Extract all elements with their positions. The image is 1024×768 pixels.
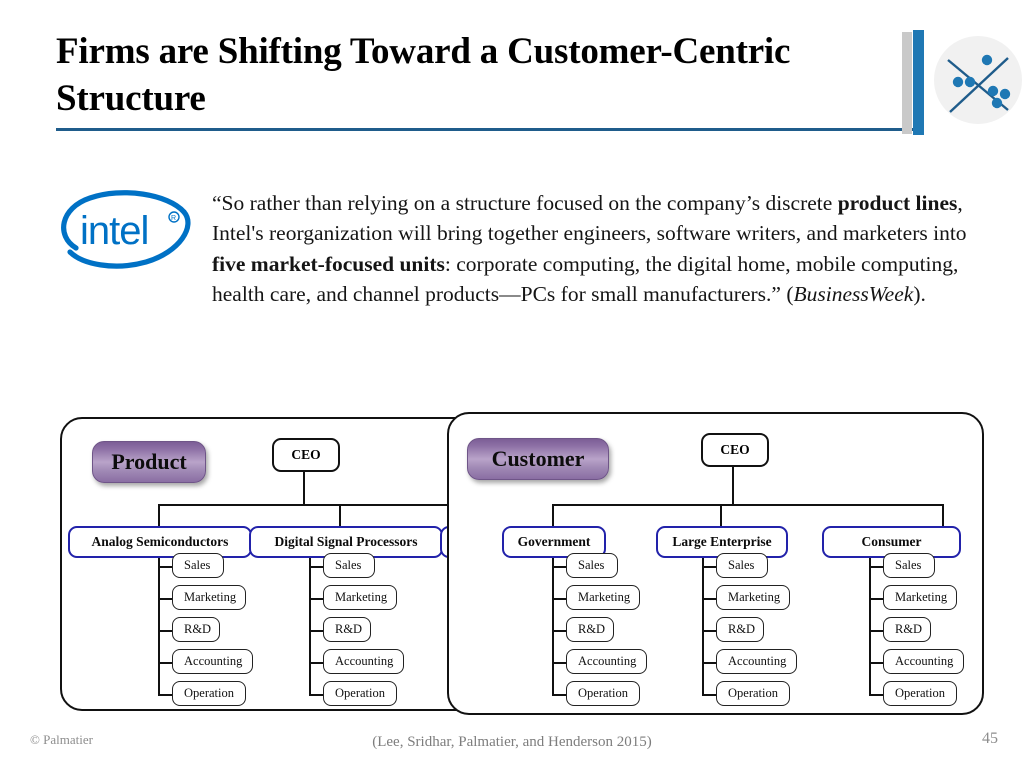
consumer-dept-rd[interactable]: R&D (883, 617, 931, 642)
quote-part-1: “So rather than relying on a structure f… (212, 191, 838, 215)
consumer-dept-link-4 (869, 662, 883, 664)
accent-bar-gray (902, 32, 912, 134)
government-dept-sales[interactable]: Sales (566, 553, 618, 578)
consumer-dept-link-3 (869, 630, 883, 632)
product-drop-2 (339, 504, 341, 526)
government-dept-accounting[interactable]: Accounting (566, 649, 647, 674)
footer-page-number: 45 (982, 730, 998, 748)
product-drop-1 (158, 504, 160, 526)
enterprise-dept-link-4 (702, 662, 716, 664)
dsp-dept-sales[interactable]: Sales (323, 553, 375, 578)
enterprise-dept-trunk (702, 554, 704, 694)
dsp-dept-link-1 (309, 566, 323, 568)
accent-bar-blue (913, 30, 924, 135)
customer-panel-clip: Customer CEO Government Large Enterprise… (449, 414, 982, 713)
consumer-dept-trunk (869, 554, 871, 694)
dsp-dept-trunk (309, 554, 311, 694)
customer-drop-2 (720, 504, 722, 526)
analog-dept-sales[interactable]: Sales (172, 553, 224, 578)
dsp-dept-link-5 (309, 694, 323, 696)
analog-dept-link-5 (158, 694, 172, 696)
page-title: Firms are Shifting Toward a Customer-Cen… (56, 28, 901, 123)
consumer-dept-link-2 (869, 598, 883, 600)
product-ceo-box: CEO (272, 438, 340, 472)
dsp-dept-rd[interactable]: R&D (323, 617, 371, 642)
analog-dept-link-1 (158, 566, 172, 568)
analog-dept-link-4 (158, 662, 172, 664)
analog-dept-rd[interactable]: R&D (172, 617, 220, 642)
enterprise-dept-link-2 (702, 598, 716, 600)
enterprise-dept-link-5 (702, 694, 716, 696)
analog-dept-marketing[interactable]: Marketing (172, 585, 246, 610)
quote-source-businessweek: BusinessWeek (794, 282, 914, 306)
svg-text:R: R (171, 215, 176, 222)
svg-text:intel: intel (80, 209, 148, 253)
enterprise-dept-sales[interactable]: Sales (716, 553, 768, 578)
dsp-dept-link-3 (309, 630, 323, 632)
government-dept-link-2 (552, 598, 566, 600)
consumer-dept-sales[interactable]: Sales (883, 553, 935, 578)
consumer-dept-operation[interactable]: Operation (883, 681, 957, 706)
consumer-dept-link-1 (869, 566, 883, 568)
enterprise-dept-marketing[interactable]: Marketing (716, 585, 790, 610)
analog-dept-link-3 (158, 630, 172, 632)
government-dept-operation[interactable]: Operation (566, 681, 640, 706)
analog-dept-accounting[interactable]: Accounting (172, 649, 253, 674)
quote-bold-product-lines: product lines (838, 191, 958, 215)
enterprise-dept-link-1 (702, 566, 716, 568)
consumer-dept-accounting[interactable]: Accounting (883, 649, 964, 674)
analog-dept-trunk (158, 554, 160, 694)
government-dept-link-1 (552, 566, 566, 568)
government-dept-link-3 (552, 630, 566, 632)
customer-ceo-box: CEO (701, 433, 769, 467)
product-panel-clip: Product CEO Analog Semiconductors Digita… (62, 419, 504, 709)
enterprise-dept-accounting[interactable]: Accounting (716, 649, 797, 674)
consumer-dept-marketing[interactable]: Marketing (883, 585, 957, 610)
dsp-dept-marketing[interactable]: Marketing (323, 585, 397, 610)
product-division-bus (158, 504, 488, 506)
government-dept-link-4 (552, 662, 566, 664)
customer-structure-panel: Customer CEO Government Large Enterprise… (447, 412, 984, 715)
customer-ceo-trunk (732, 463, 734, 505)
analog-dept-link-2 (158, 598, 172, 600)
enterprise-dept-rd[interactable]: R&D (716, 617, 764, 642)
product-badge: Product (92, 441, 206, 483)
intel-logo: intel R (50, 186, 198, 276)
intel-quote: “So rather than relying on a structure f… (212, 188, 1002, 310)
customer-badge: Customer (467, 438, 609, 480)
quote-part-4: ). (913, 282, 926, 306)
product-ceo-trunk (303, 468, 305, 505)
customer-drop-1 (552, 504, 554, 526)
consumer-dept-link-5 (869, 694, 883, 696)
customer-division-bus (552, 504, 943, 506)
government-dept-rd[interactable]: R&D (566, 617, 614, 642)
government-dept-link-5 (552, 694, 566, 696)
page-title-wrap: Firms are Shifting Toward a Customer-Cen… (56, 28, 901, 123)
title-underline-rule (56, 128, 913, 131)
division-analog-semiconductors[interactable]: Analog Semiconductors (68, 526, 252, 558)
dsp-dept-link-4 (309, 662, 323, 664)
footer-citation: (Lee, Sridhar, Palmatier, and Henderson … (0, 734, 1024, 751)
analog-dept-operation[interactable]: Operation (172, 681, 246, 706)
enterprise-dept-operation[interactable]: Operation (716, 681, 790, 706)
dsp-dept-link-2 (309, 598, 323, 600)
dsp-dept-accounting[interactable]: Accounting (323, 649, 404, 674)
org-chart-diagram: Product CEO Analog Semiconductors Digita… (0, 400, 1024, 730)
government-dept-marketing[interactable]: Marketing (566, 585, 640, 610)
dsp-dept-operation[interactable]: Operation (323, 681, 397, 706)
enterprise-dept-link-3 (702, 630, 716, 632)
government-dept-trunk (552, 554, 554, 694)
quote-bold-five-units: five market-focused units (212, 252, 445, 276)
network-nodes-circle-icon (932, 34, 1024, 126)
product-structure-panel: Product CEO Analog Semiconductors Digita… (60, 417, 506, 711)
customer-drop-3 (942, 504, 944, 526)
